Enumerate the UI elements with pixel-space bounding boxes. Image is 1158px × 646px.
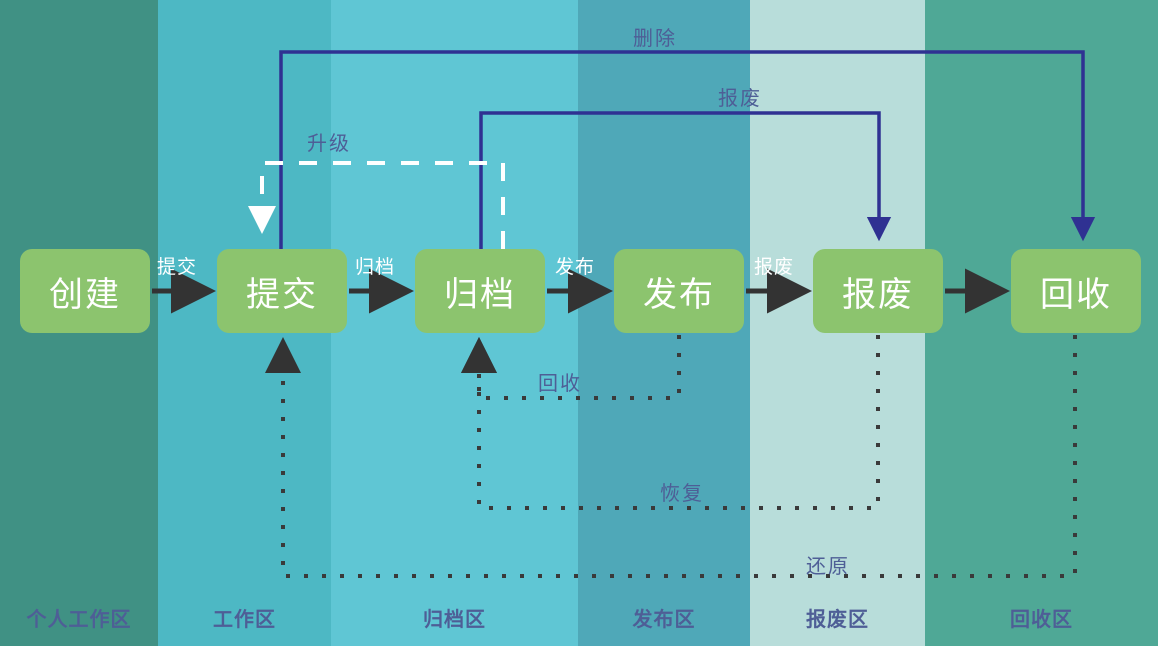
state-node-recycle[interactable]: 回收 xyxy=(1011,249,1141,333)
forward-edge-label-2: 发布 xyxy=(555,252,595,279)
wire-upgrade xyxy=(262,163,503,249)
forward-edge-label-1: 归档 xyxy=(355,252,395,279)
wire-edge-label-1: 报废 xyxy=(718,82,762,111)
state-node-scrap[interactable]: 报废 xyxy=(813,249,943,333)
state-node-archive[interactable]: 归档 xyxy=(415,249,545,333)
wire-edge-label-3: 回收 xyxy=(538,367,582,396)
forward-edge-label-0: 提交 xyxy=(157,252,197,279)
state-node-create[interactable]: 创建 xyxy=(20,249,150,333)
wire-edge-label-2: 升级 xyxy=(307,127,351,156)
state-node-publish[interactable]: 发布 xyxy=(614,249,744,333)
wire-edge-label-5: 还原 xyxy=(806,550,850,579)
wire-scrap xyxy=(481,113,879,249)
wire-edge-label-4: 恢复 xyxy=(660,477,704,506)
state-flow-diagram: 个人工作区工作区归档区发布区报废区回收区 xyxy=(0,0,1158,646)
forward-edge-label-3: 报废 xyxy=(754,252,794,279)
wire-edge-label-0: 删除 xyxy=(633,22,677,51)
state-node-submit[interactable]: 提交 xyxy=(217,249,347,333)
connector-wires xyxy=(0,0,1158,646)
wire-delete xyxy=(281,52,1083,249)
